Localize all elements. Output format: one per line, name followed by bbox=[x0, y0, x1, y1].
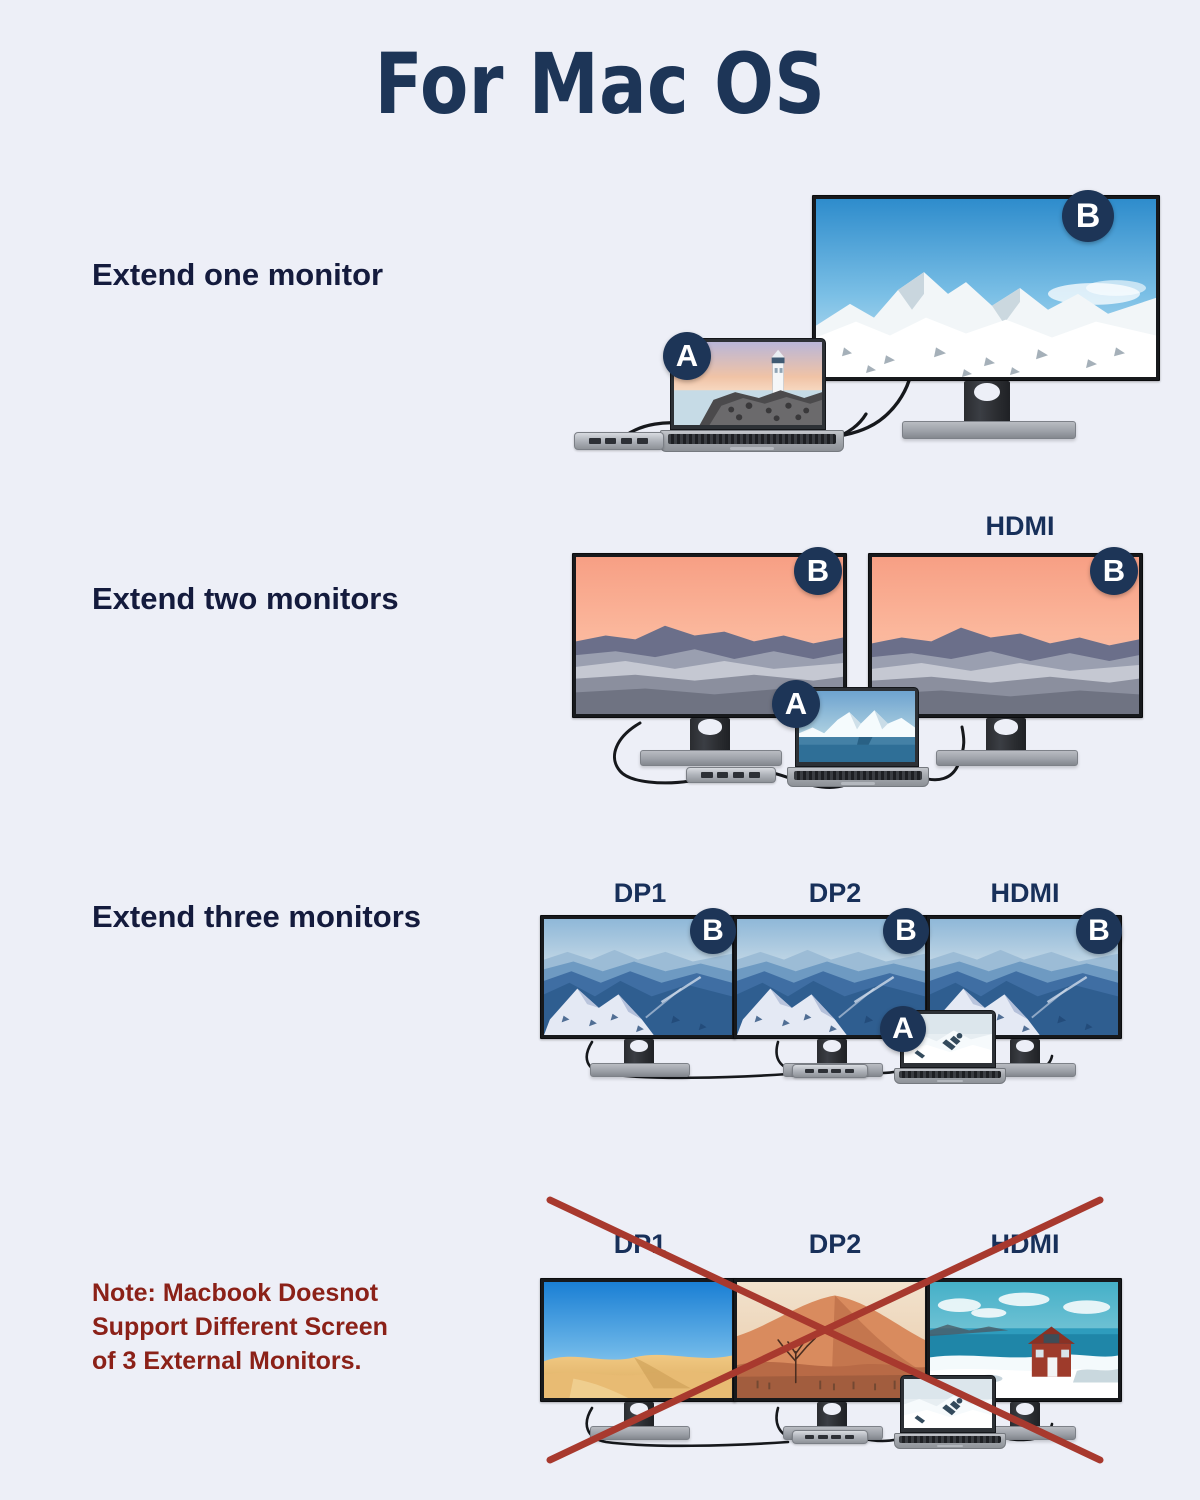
monitor-neck-r1-m1 bbox=[964, 381, 1010, 425]
port-label-r3-m3: HDMI bbox=[930, 877, 1120, 909]
port-label-r4-m3: HDMI bbox=[930, 1228, 1120, 1260]
dock-hub-r3 bbox=[792, 1064, 868, 1078]
badge-a-r3: A bbox=[880, 1006, 926, 1052]
laptop-keyboard-r2 bbox=[794, 771, 923, 780]
monitor-base-r2-m1 bbox=[640, 750, 782, 766]
laptop-keyboard-r3 bbox=[899, 1071, 1000, 1078]
scene-extend-one: DP1/DP2/HDMI bbox=[560, 160, 1160, 480]
badge-b-r3-m1: B bbox=[690, 908, 736, 954]
dock-port bbox=[805, 1435, 815, 1440]
badge-a-r2: A bbox=[772, 680, 820, 728]
monitor-head-r4-m1 bbox=[540, 1278, 736, 1402]
badge-b-r2-m1: B bbox=[794, 547, 842, 595]
laptop-trackpad-r1 bbox=[730, 447, 774, 450]
dock-port bbox=[818, 1069, 828, 1074]
monitor-base-r4-m1 bbox=[590, 1426, 690, 1440]
dock-port bbox=[805, 1069, 815, 1074]
monitor-neck-r2-m2 bbox=[986, 718, 1026, 754]
dock-port bbox=[831, 1435, 841, 1440]
dock-port bbox=[605, 438, 616, 444]
dock-port bbox=[701, 772, 712, 778]
port-label-r2-m2: HDMI bbox=[885, 510, 1155, 542]
note-text: Note: Macbook Doesnot Support Different … bbox=[92, 1276, 492, 1378]
monitor-base-r3-m1 bbox=[590, 1063, 690, 1077]
laptop-trackpad-r3 bbox=[937, 1080, 963, 1082]
dock-hub-r2 bbox=[686, 767, 776, 783]
laptop-r4 bbox=[900, 1375, 1006, 1453]
port-label-r4-m2: DP2 bbox=[745, 1228, 925, 1260]
badge-b-r3-m3: B bbox=[1076, 908, 1122, 954]
page-title: For Mac OS bbox=[42, 38, 1158, 130]
note-line-3: of 3 External Monitors. bbox=[92, 1344, 492, 1378]
scene-extend-three: DP1 DP2 HDMI bbox=[530, 870, 1130, 1090]
dock-port bbox=[589, 438, 600, 444]
dock-port bbox=[831, 1069, 841, 1074]
laptop-keyboard-r4 bbox=[899, 1436, 1000, 1443]
dock-port bbox=[637, 438, 648, 444]
monitor-r4-m1 bbox=[540, 1278, 736, 1448]
laptop-base-r3 bbox=[894, 1068, 1006, 1084]
port-label-r3-m2: DP2 bbox=[745, 877, 925, 909]
infographic-page: For Mac OS Extend one monitor DP1/DP2/HD… bbox=[0, 0, 1200, 1500]
dock-port bbox=[621, 438, 632, 444]
dock-hub-r4 bbox=[792, 1430, 868, 1444]
badge-b-r2-m2: B bbox=[1090, 547, 1138, 595]
port-label-r4-m1: DP1 bbox=[550, 1228, 730, 1260]
laptop-base-r1 bbox=[660, 430, 844, 452]
laptop-base-r2 bbox=[787, 767, 929, 787]
badge-a-r1: A bbox=[663, 332, 711, 380]
monitor-screen-r4-m2 bbox=[737, 1282, 925, 1398]
dock-hub-r1 bbox=[574, 432, 664, 450]
dock-port bbox=[717, 772, 728, 778]
dock-port bbox=[845, 1435, 855, 1440]
row-label-extend-three: Extend three monitors bbox=[92, 898, 421, 936]
dock-port bbox=[818, 1435, 828, 1440]
scene-unsupported: DP1 DP2 HDMI bbox=[530, 1200, 1130, 1470]
row-label-extend-one: Extend one monitor bbox=[92, 256, 383, 294]
monitor-base-r1-m1 bbox=[902, 421, 1076, 439]
monitor-base-r2-m2 bbox=[936, 750, 1078, 766]
monitor-screen-r4-m1 bbox=[544, 1282, 732, 1398]
scene-extend-two: DP1/DP2 HDMI bbox=[560, 505, 1160, 795]
note-line-1: Note: Macbook Doesnot bbox=[92, 1276, 492, 1310]
badge-b-r3-m2: B bbox=[883, 908, 929, 954]
laptop-lid-r4 bbox=[900, 1375, 996, 1433]
monitor-neck-r2-m1 bbox=[690, 718, 730, 754]
dock-port bbox=[749, 772, 760, 778]
port-label-r3-m1: DP1 bbox=[550, 877, 730, 909]
row-label-extend-two: Extend two monitors bbox=[92, 580, 399, 618]
dock-port bbox=[845, 1069, 855, 1074]
laptop-trackpad-r2 bbox=[841, 782, 875, 785]
dock-port bbox=[733, 772, 744, 778]
laptop-trackpad-r4 bbox=[937, 1445, 963, 1447]
badge-b-r1-m1: B bbox=[1062, 190, 1114, 242]
note-line-2: Support Different Screen bbox=[92, 1310, 492, 1344]
laptop-screen-r4 bbox=[904, 1379, 992, 1428]
laptop-keyboard-r1 bbox=[668, 434, 835, 444]
laptop-base-r4 bbox=[894, 1433, 1006, 1449]
